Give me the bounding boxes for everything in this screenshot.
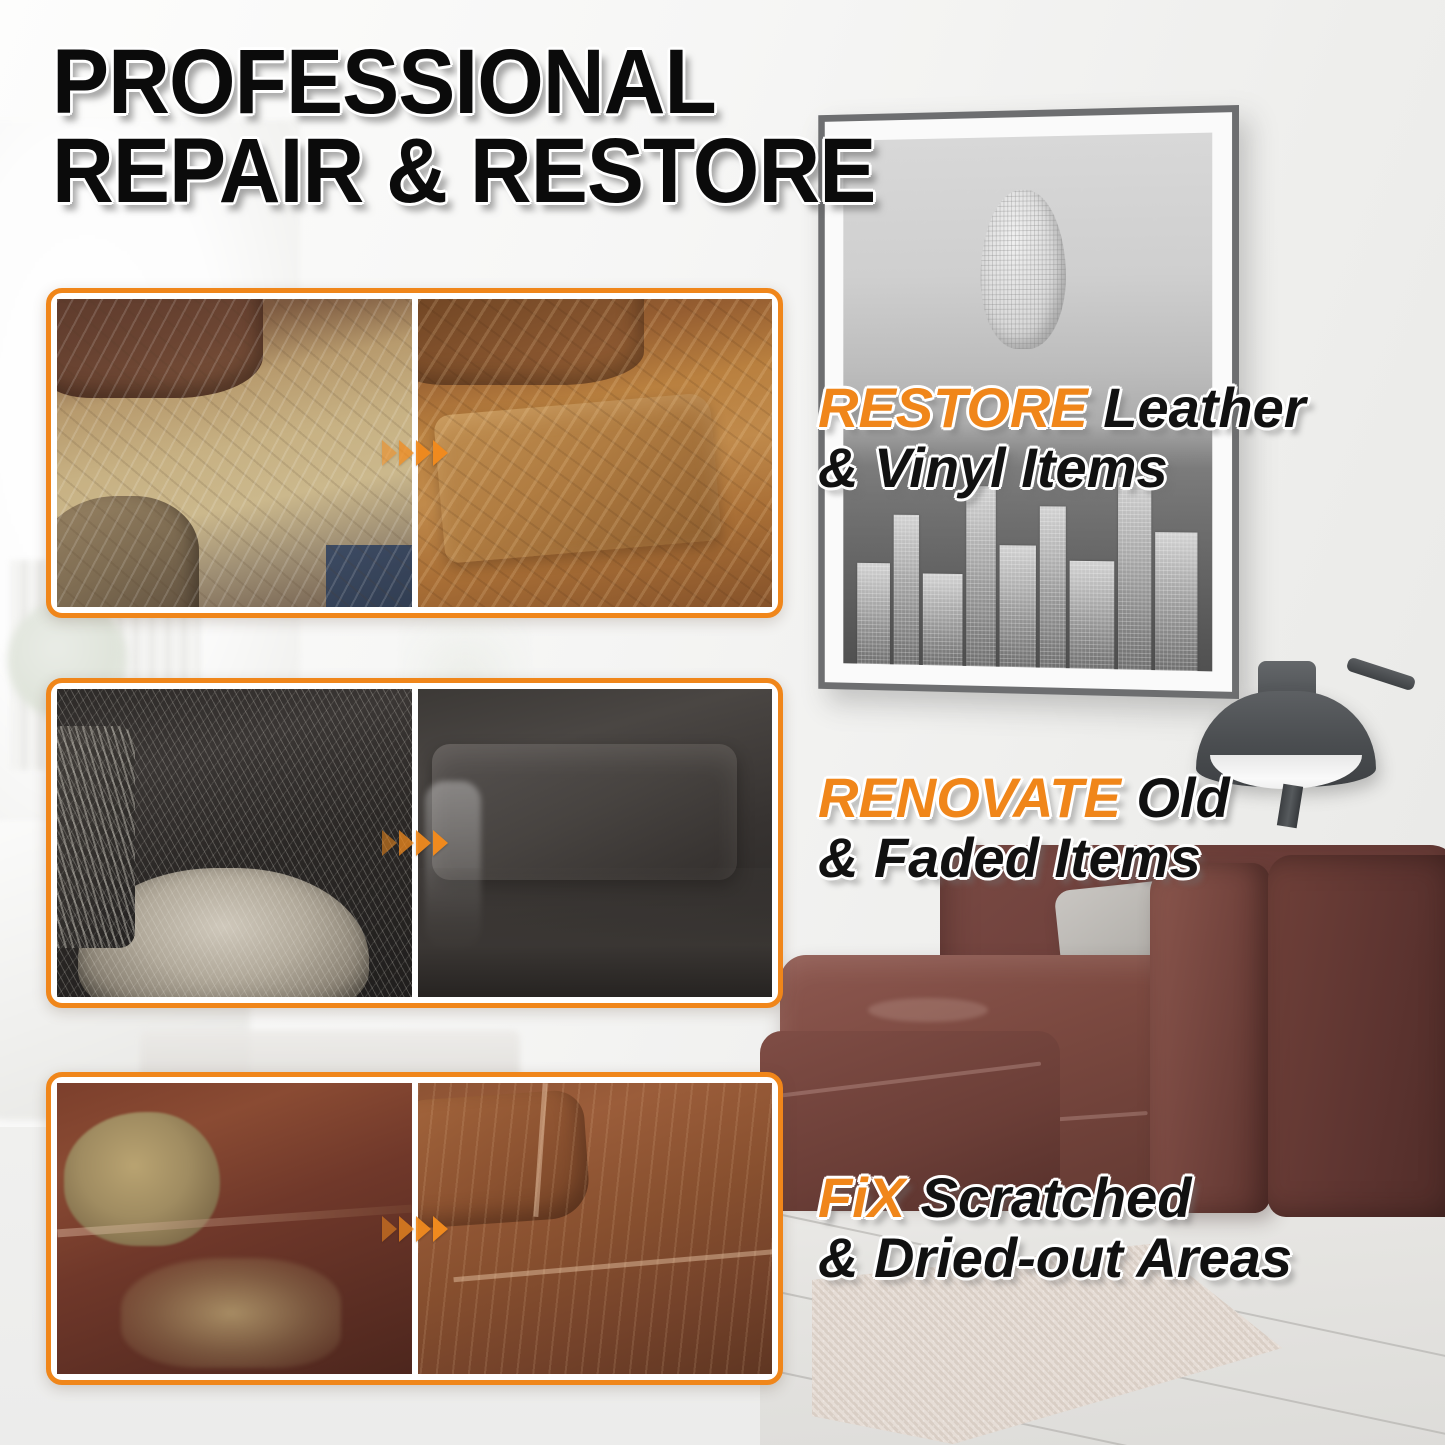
claim-renovate-line-2: & Faded Items: [818, 828, 1445, 888]
claim-restore: RESTORE Leather & Vinyl Items: [818, 378, 1445, 498]
headline: PROFESSIONAL REPAIR & RESTORE: [52, 38, 937, 216]
claim-renovate: RENOVATE Old & Faded Items: [818, 768, 1445, 888]
claim-restore-line-1: RESTORE Leather: [818, 378, 1445, 438]
claim-restore-rest: Leather: [1088, 376, 1306, 439]
claim-fix-keyword: FiX: [818, 1166, 905, 1229]
headline-line-2: REPAIR & RESTORE: [52, 127, 875, 216]
photo-before-worn-recliner: [57, 689, 412, 997]
claim-fix-line-2: & Dried-out Areas: [818, 1228, 1445, 1288]
before-after-panel-renovate[interactable]: [46, 678, 783, 1008]
claim-fix-line-1: FiX Scratched: [818, 1168, 1445, 1228]
claim-restore-line-2: & Vinyl Items: [818, 438, 1445, 498]
balloon-shape: [981, 189, 1066, 349]
sofa-arm-near: [1150, 863, 1270, 1213]
claim-fix: FiX Scratched & Dried-out Areas: [818, 1168, 1445, 1288]
claim-fix-rest: Scratched: [905, 1166, 1191, 1229]
photo-before-faded-sofa: [57, 299, 412, 607]
headline-line-1: PROFESSIONAL: [52, 38, 875, 127]
claim-restore-keyword: RESTORE: [818, 376, 1088, 439]
product-marketing-poster: PROFESSIONAL REPAIR & RESTORE RESTORE Le…: [0, 0, 1445, 1445]
claim-renovate-keyword: RENOVATE: [818, 766, 1121, 829]
claim-renovate-line-1: RENOVATE Old: [818, 768, 1445, 828]
photo-after-restored-recliner: [418, 689, 773, 997]
photo-after-fixed-sofa: [418, 1083, 773, 1374]
before-after-panel-fix[interactable]: [46, 1072, 783, 1385]
before-after-panel-restore[interactable]: [46, 288, 783, 618]
sofa-arm-far: [1268, 855, 1445, 1217]
claim-renovate-rest: Old: [1121, 766, 1230, 829]
photo-before-scratched-sofa: [57, 1083, 412, 1374]
photo-after-restored-sofa: [418, 299, 773, 607]
